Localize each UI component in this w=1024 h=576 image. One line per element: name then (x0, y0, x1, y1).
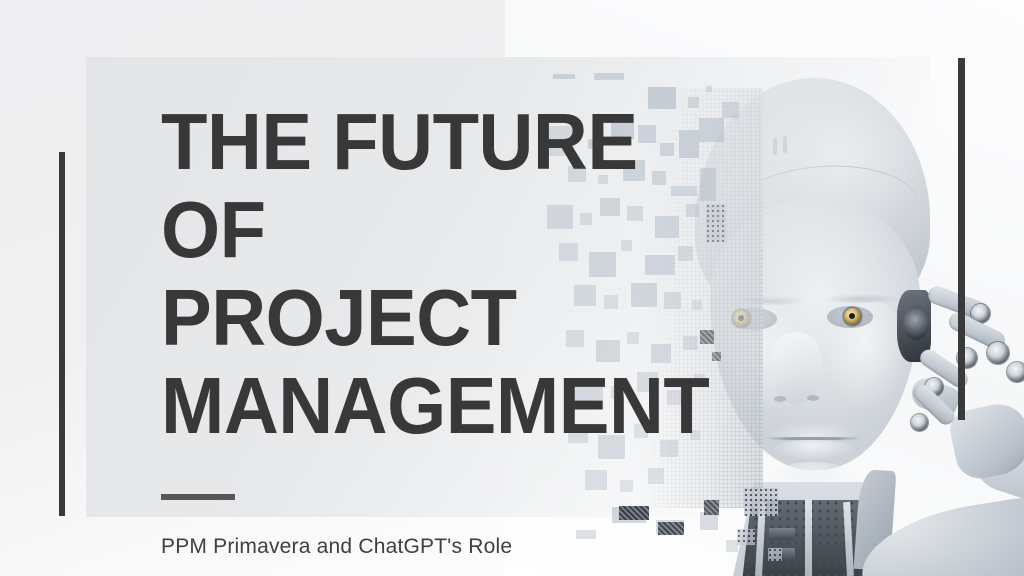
robot-knuckle-5 (987, 342, 1009, 364)
title-divider (161, 494, 235, 500)
robot-neck-module-1 (769, 528, 795, 540)
robot-neck-module-2 (769, 548, 795, 560)
slide-canvas: THE FUTURE OF PROJECT MANAGEMENT PPM Pri… (0, 0, 1024, 576)
robot-knuckle-6 (1007, 362, 1024, 382)
accent-bar-right (958, 58, 965, 420)
page-title: THE FUTURE OF PROJECT MANAGEMENT (161, 98, 693, 450)
accent-bar-left (59, 152, 65, 516)
title-text-block: THE FUTURE OF PROJECT MANAGEMENT PPM Pri… (161, 98, 721, 559)
subtitle: PPM Primavera and ChatGPT's Role (161, 535, 721, 559)
